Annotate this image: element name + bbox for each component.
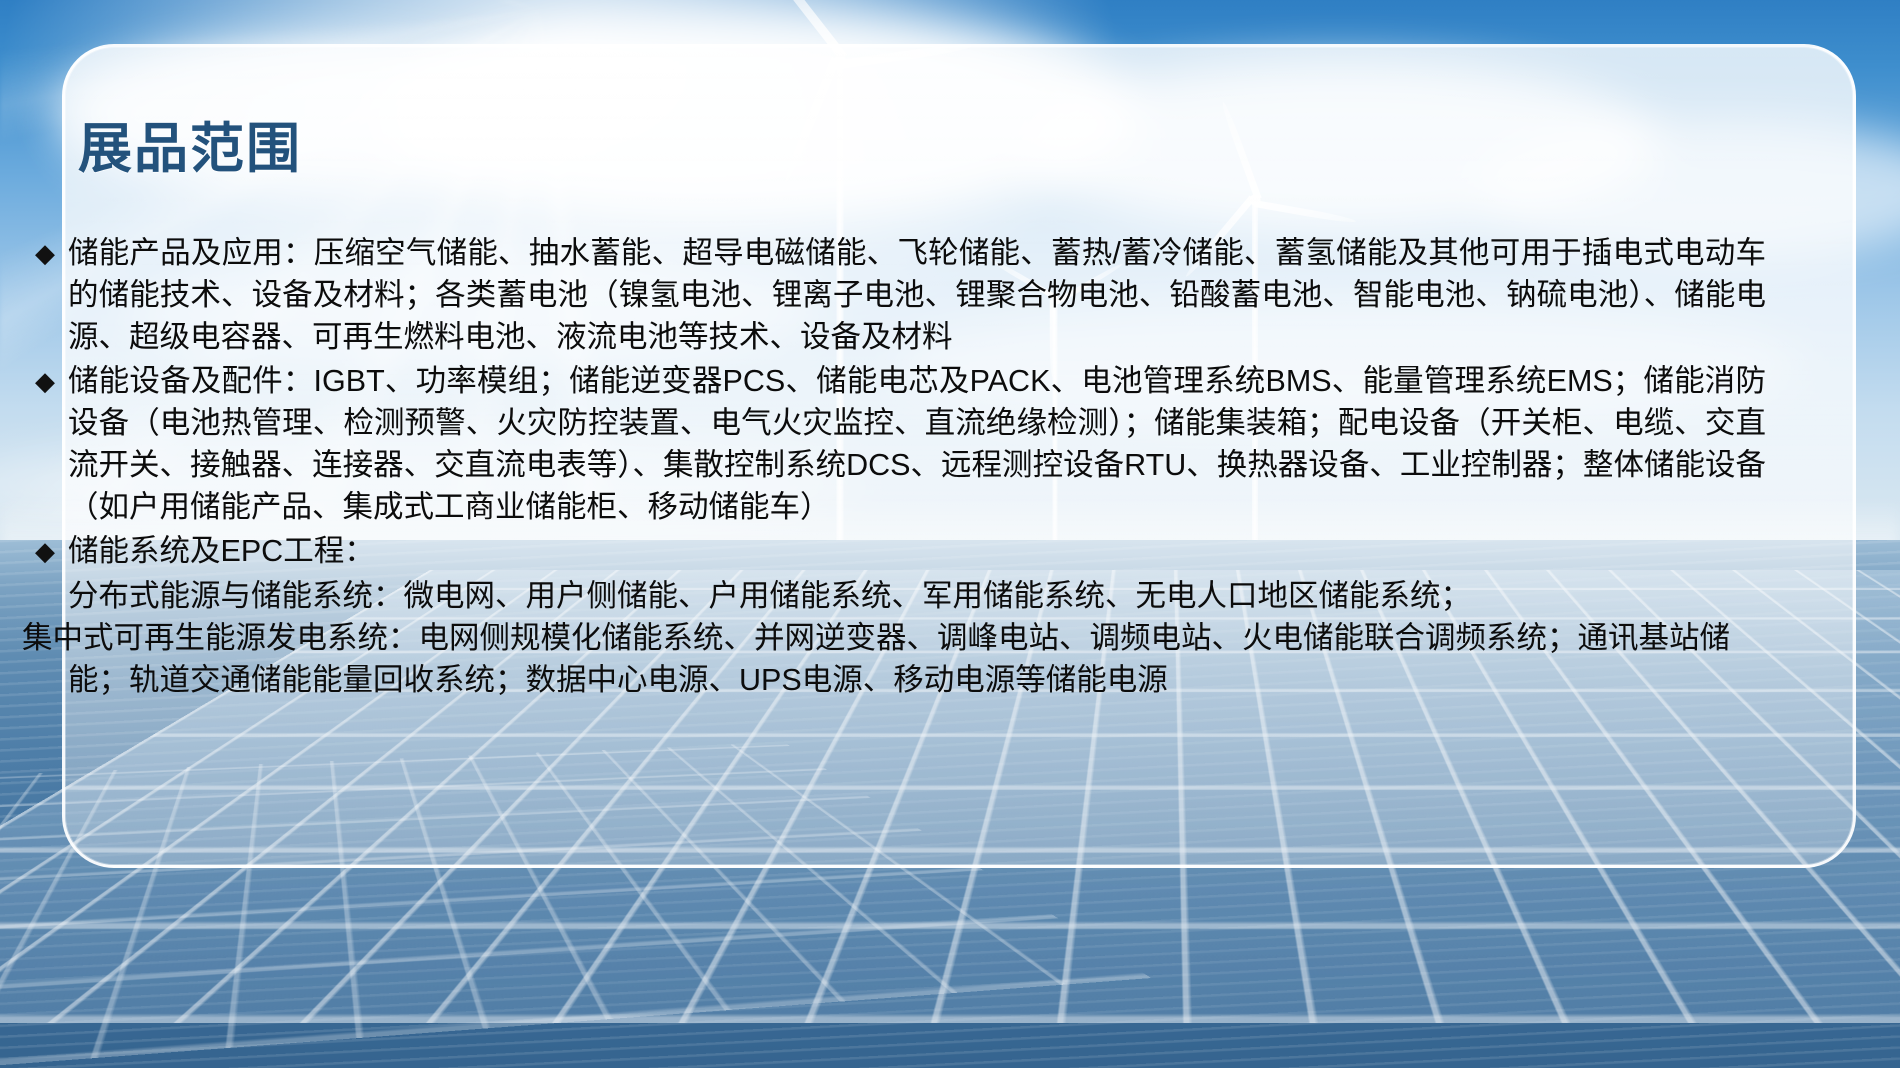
list-item: ◆ 储能产品及应用：压缩空气储能、抽水蓄能、超导电磁储能、飞轮储能、蓄热/蓄冷储…: [22, 232, 1766, 358]
sub-line: 分布式能源与储能系统：微电网、用户侧储能、户用储能系统、军用储能系统、无电人口地…: [22, 575, 1766, 617]
list-item-text: 储能系统及EPC工程：: [68, 530, 1766, 572]
list-item: ◆ 储能系统及EPC工程：: [22, 530, 1766, 573]
diamond-bullet-icon: ◆: [22, 530, 68, 573]
diamond-bullet-icon: ◆: [22, 360, 68, 403]
list-item-text: 储能产品及应用：压缩空气储能、抽水蓄能、超导电磁储能、飞轮储能、蓄热/蓄冷储能、…: [68, 232, 1766, 358]
slide-canvas: 展品范围 ◆ 储能产品及应用：压缩空气储能、抽水蓄能、超导电磁储能、飞轮储能、蓄…: [0, 0, 1900, 1068]
diamond-bullet-icon: ◆: [22, 232, 68, 275]
exhibit-scope-list: ◆ 储能产品及应用：压缩空气储能、抽水蓄能、超导电磁储能、飞轮储能、蓄热/蓄冷储…: [22, 232, 1766, 701]
list-item-text: 储能设备及配件：IGBT、功率模组；储能逆变器PCS、储能电芯及PACK、电池管…: [68, 360, 1766, 528]
list-item: ◆ 储能设备及配件：IGBT、功率模组；储能逆变器PCS、储能电芯及PACK、电…: [22, 360, 1766, 528]
page-title: 展品范围: [78, 122, 302, 176]
sub-line: 集中式可再生能源发电系统：电网侧规模化储能系统、并网逆变器、调峰电站、调频电站、…: [22, 617, 1766, 701]
